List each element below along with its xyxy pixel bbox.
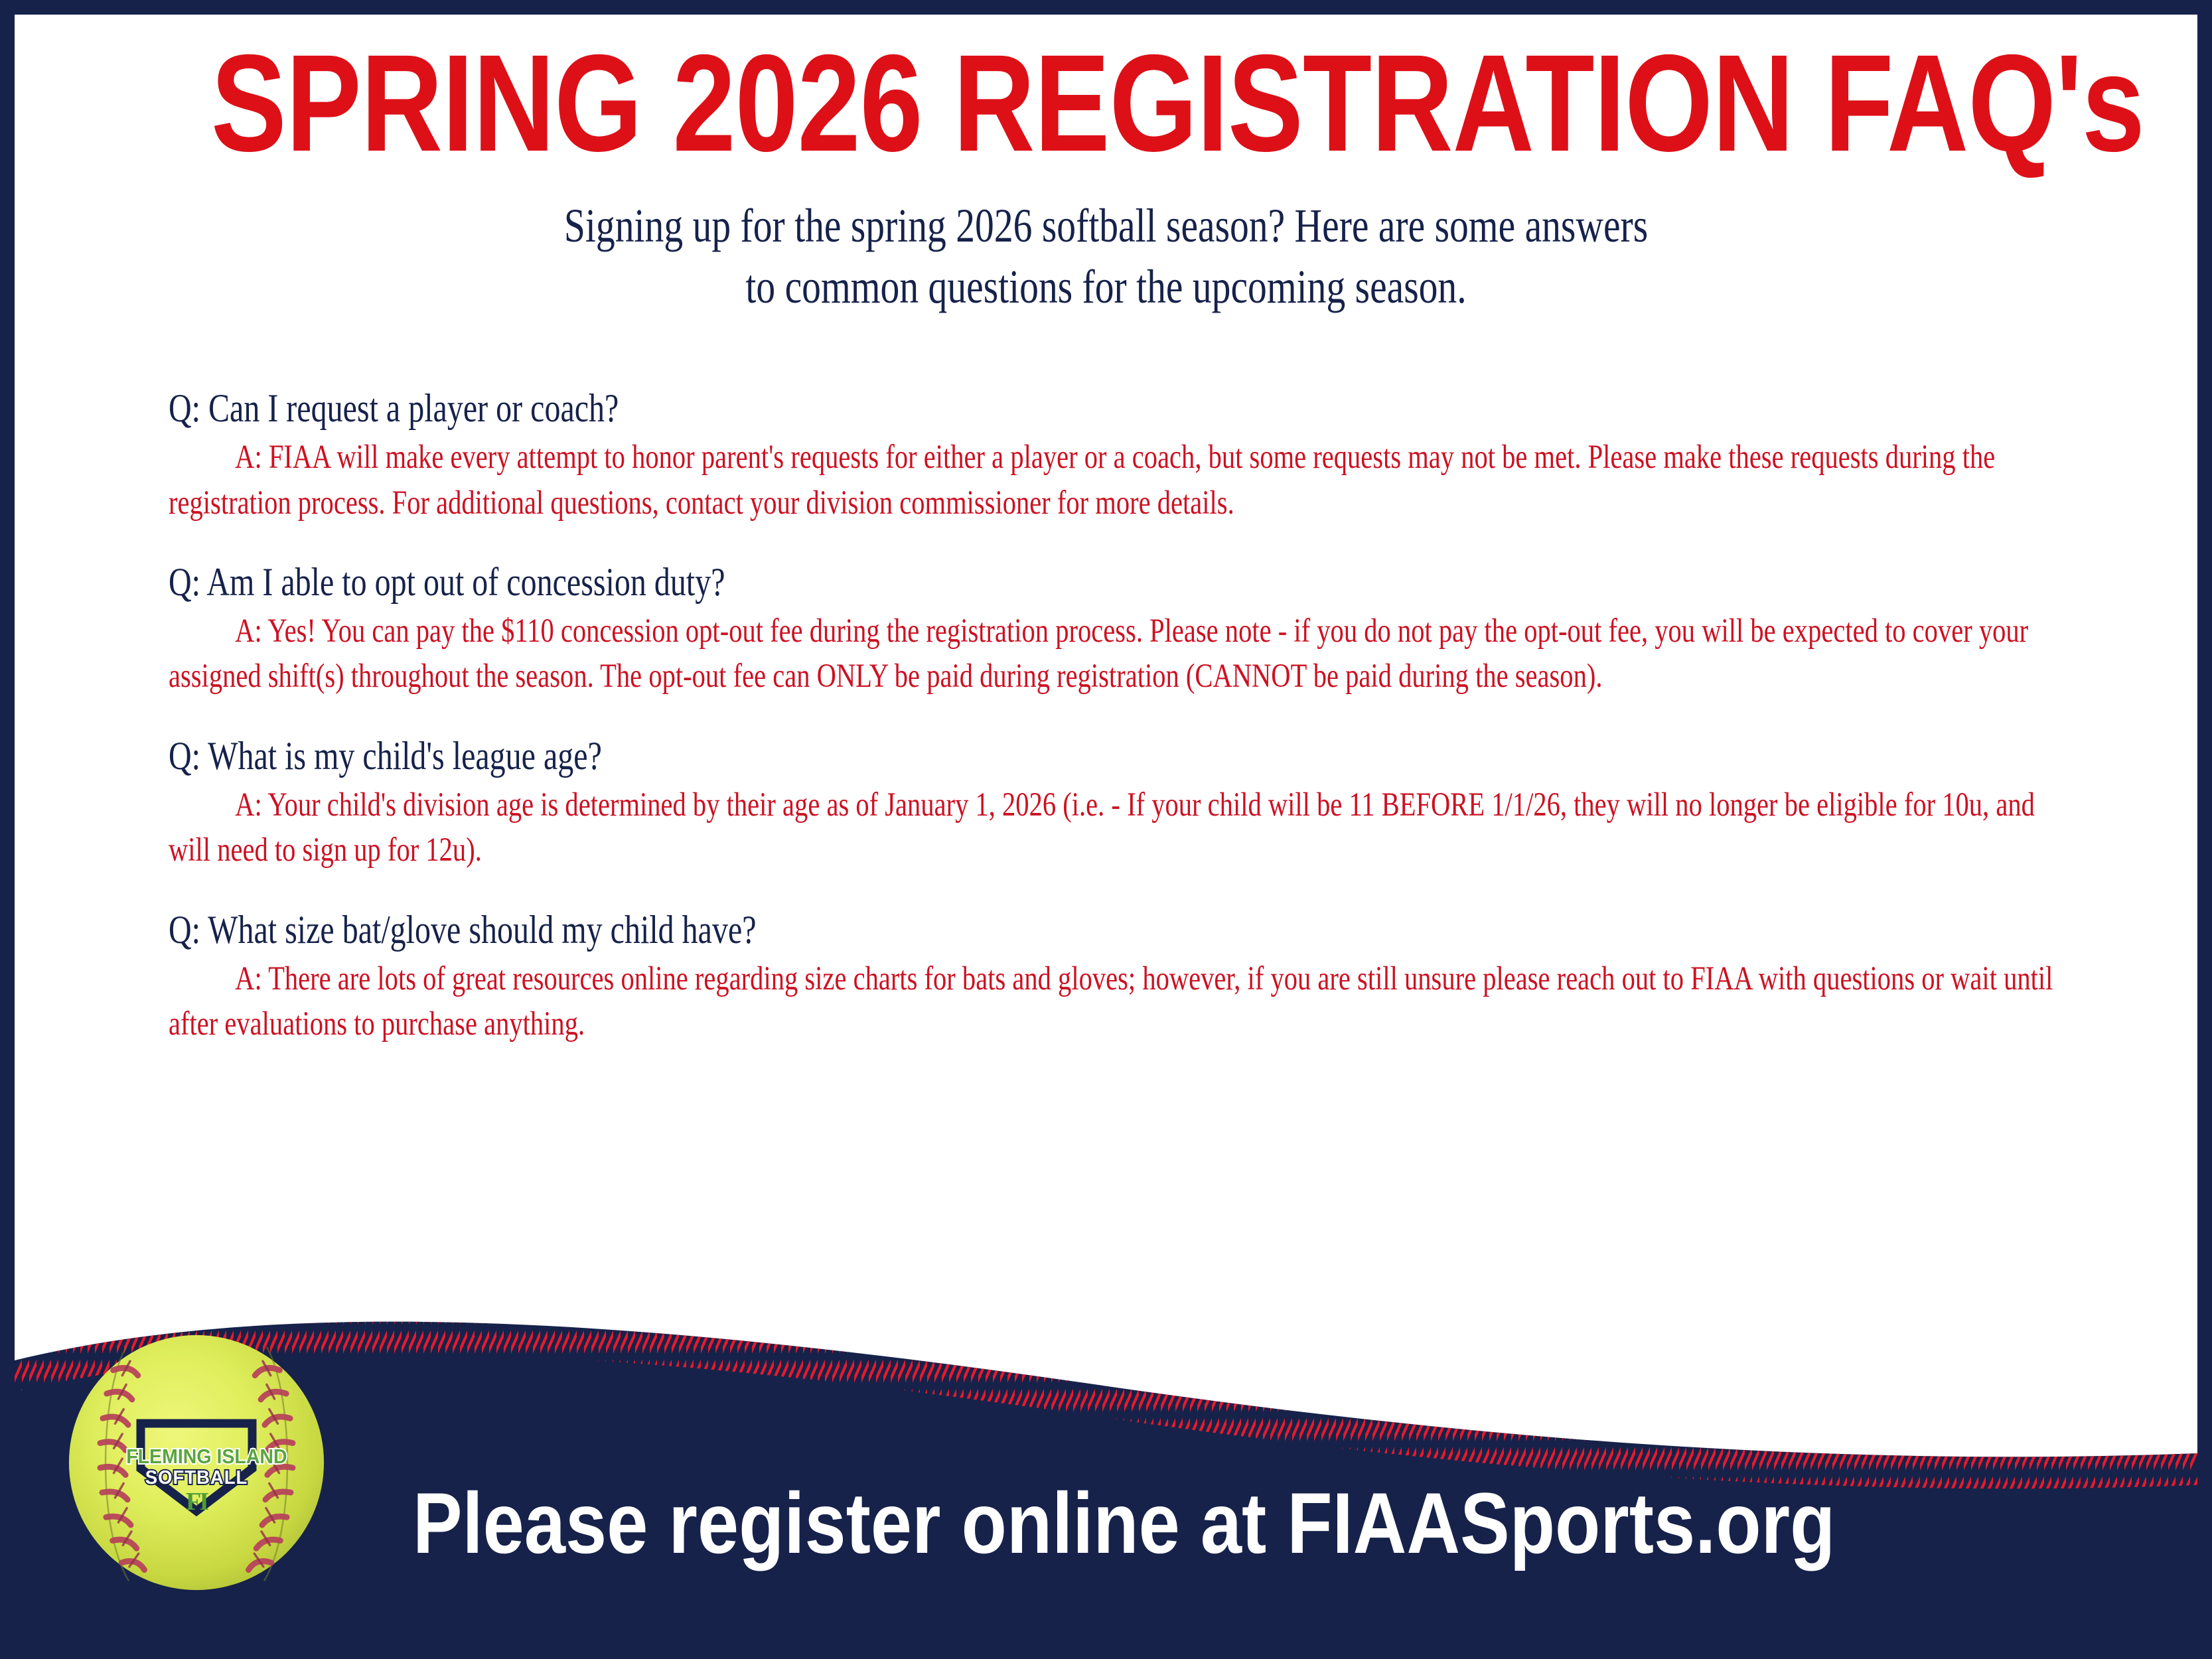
- faq-question: Q: What size bat/glove should my child h…: [169, 908, 2080, 952]
- faq-answer: A: There are lots of great resources onl…: [169, 956, 2080, 1047]
- softball-icon: FLEMING ISLAND SOFTBALL FI: [66, 1333, 327, 1593]
- faq-item: Q: Am I able to opt out of concession du…: [169, 560, 2080, 699]
- page-subtitle: Signing up for the spring 2026 softball …: [233, 195, 1979, 317]
- flyer-canvas: SPRING 2026 REGISTRATION FAQ's Signing u…: [15, 15, 2197, 1644]
- faq-item: Q: What size bat/glove should my child h…: [169, 908, 2080, 1047]
- faq-question: Q: Am I able to opt out of concession du…: [169, 560, 2080, 605]
- flyer-root: SPRING 2026 REGISTRATION FAQ's Signing u…: [0, 0, 2212, 1659]
- footer-cta: Please register online at FIAASports.org: [413, 1480, 1835, 1566]
- faq-answer: A: Yes! You can pay the $110 concession …: [169, 609, 2080, 699]
- faq-item: Q: What is my child's league age? A: You…: [169, 734, 2080, 873]
- bottom-banner: Please register online at FIAASports.org: [15, 1299, 2197, 1644]
- faq-item: Q: Can I request a player or coach? A: F…: [169, 386, 2080, 526]
- page-title: SPRING 2026 REGISTRATION FAQ's: [211, 35, 2001, 173]
- faq-question: Q: What is my child's league age?: [169, 734, 2080, 778]
- faq-list: Q: Can I request a player or coach? A: F…: [169, 386, 2080, 1046]
- faq-answer: A: Your child's division age is determin…: [169, 782, 2080, 873]
- faq-answer: A: FIAA will make every attempt to honor…: [169, 435, 2080, 526]
- faq-question: Q: Can I request a player or coach?: [169, 386, 2080, 431]
- subtitle-line-2: to common questions for the upcoming sea…: [233, 256, 1979, 317]
- banner-navy-shape: [15, 1299, 2197, 1644]
- subtitle-line-1: Signing up for the spring 2026 softball …: [233, 195, 1979, 256]
